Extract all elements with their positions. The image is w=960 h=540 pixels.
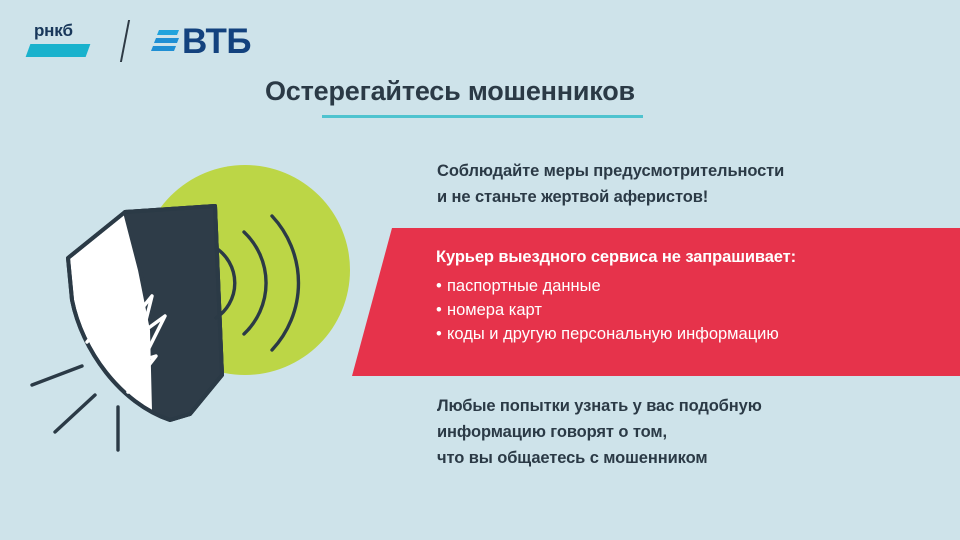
warning-banner: Курьер выездного сервиса не запрашивает:…: [352, 228, 960, 376]
warning-banner-heading: Курьер выездного сервиса не запрашивает:: [436, 248, 946, 267]
intro-line-1: Соблюдайте меры предусмотрительности: [437, 158, 784, 184]
list-item-label: номера карт: [447, 298, 542, 322]
list-item-label: паспортные данные: [447, 274, 601, 298]
outro-line-1: Любые попытки узнать у вас подобную: [437, 393, 762, 419]
vtb-logo: ВТБ: [152, 21, 251, 61]
warning-banner-content: Курьер выездного сервиса не запрашивает:…: [436, 248, 946, 346]
logo-divider: [120, 20, 130, 62]
rnkb-bar-icon: [26, 44, 91, 57]
title-block: Остерегайтесь мошенников: [265, 76, 765, 118]
list-item: • паспортные данные: [436, 274, 946, 298]
list-item: • номера карт: [436, 298, 946, 322]
infographic-slide: рнкб ВТБ Остерегайтесь мошенников: [0, 0, 960, 540]
rnkb-logo: рнкб: [28, 21, 94, 61]
bullet-icon: •: [436, 274, 447, 298]
vtb-wordmark: ВТБ: [182, 24, 251, 59]
intro-line-2: и не станьте жертвой аферистов!: [437, 184, 784, 210]
outro-paragraph: Любые попытки узнать у вас подобную инфо…: [437, 393, 762, 471]
rnkb-wordmark: рнкб: [34, 22, 73, 39]
bullet-icon: •: [436, 322, 447, 346]
outro-line-2: информацию говорят о том,: [437, 419, 762, 445]
shield-illustration: [0, 120, 400, 490]
outro-line-3: что вы общаетесь с мошенником: [437, 445, 762, 471]
impact-ray-left: [32, 366, 82, 385]
logo-bar: рнкб ВТБ: [28, 18, 251, 64]
page-title: Остерегайтесь мошенников: [265, 76, 765, 107]
bullet-icon: •: [436, 298, 447, 322]
vtb-stripes-icon: [152, 28, 178, 54]
impact-ray-diagonal: [55, 395, 95, 432]
list-item-label: коды и другую персональную информацию: [447, 322, 779, 346]
title-underline-rule: [322, 115, 643, 118]
list-item: • коды и другую персональную информацию: [436, 322, 946, 346]
intro-paragraph: Соблюдайте меры предусмотрительности и н…: [437, 158, 784, 210]
